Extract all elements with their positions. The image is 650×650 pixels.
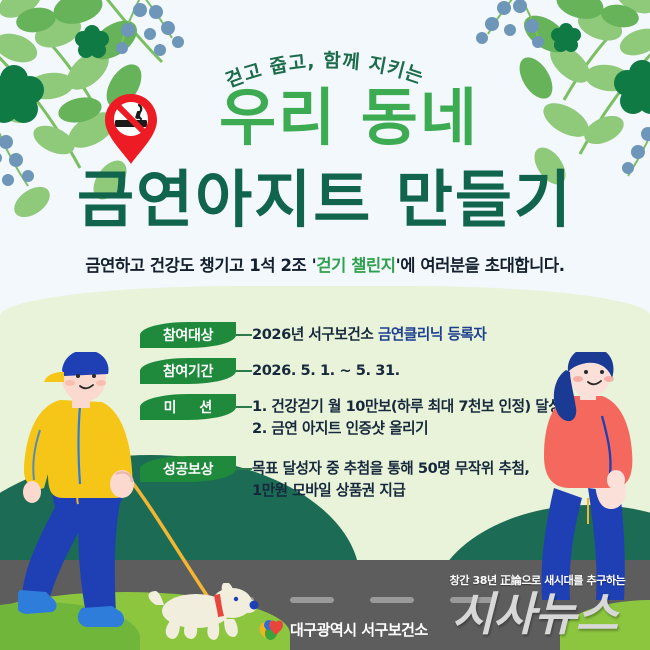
title-line-2: 금연아지트 만들기 bbox=[0, 166, 650, 234]
lead-text-before: 금연하고 건강도 챙기고 1석 2조 ' bbox=[85, 256, 316, 275]
dog-illustration bbox=[148, 583, 260, 645]
footer-org-name: 대구광역시 서구보건소 bbox=[290, 619, 428, 640]
badge-target: 참여대상 bbox=[140, 322, 236, 348]
daegu-seogu-logo-icon bbox=[258, 618, 284, 640]
watermark-logo: 시사뉴스 bbox=[432, 588, 637, 640]
info-target-accent: 금연클리닉 등록자 bbox=[378, 326, 486, 343]
badge-connector bbox=[236, 406, 252, 408]
info-text-target: 2026년 서구보건소 금연클리닉 등록자 bbox=[252, 322, 610, 346]
info-row-target: 참여대상 2026년 서구보건소 금연클리닉 등록자 bbox=[140, 322, 610, 346]
road-dash bbox=[370, 597, 414, 603]
footer-brand: 대구광역시 서구보건소 bbox=[258, 618, 428, 640]
lead-sentence: 금연하고 건강도 챙기고 1석 2조 '걷기 챌린지'에 여러분을 초대합니다. bbox=[0, 252, 650, 276]
poster-root: 걷고 줍고, 함께 지키는 우리 동네 금연아지트 만들기 금연하고 건강도 챙… bbox=[0, 0, 650, 650]
badge-connector bbox=[236, 334, 252, 336]
badge-connector bbox=[236, 370, 252, 372]
lead-text-highlight: 걷기 챌린지 bbox=[316, 256, 395, 275]
info-target-plain: 2026년 서구보건소 bbox=[252, 326, 378, 343]
badge-connector bbox=[236, 468, 252, 470]
watermark-tagline: 창간 38년 正論으로 새시대를 추구하는 bbox=[430, 572, 645, 588]
lead-text-after: '에 여러분을 초대합니다. bbox=[396, 256, 565, 275]
road-dash bbox=[290, 597, 334, 603]
title-line-1: 우리 동네 bbox=[0, 84, 650, 152]
